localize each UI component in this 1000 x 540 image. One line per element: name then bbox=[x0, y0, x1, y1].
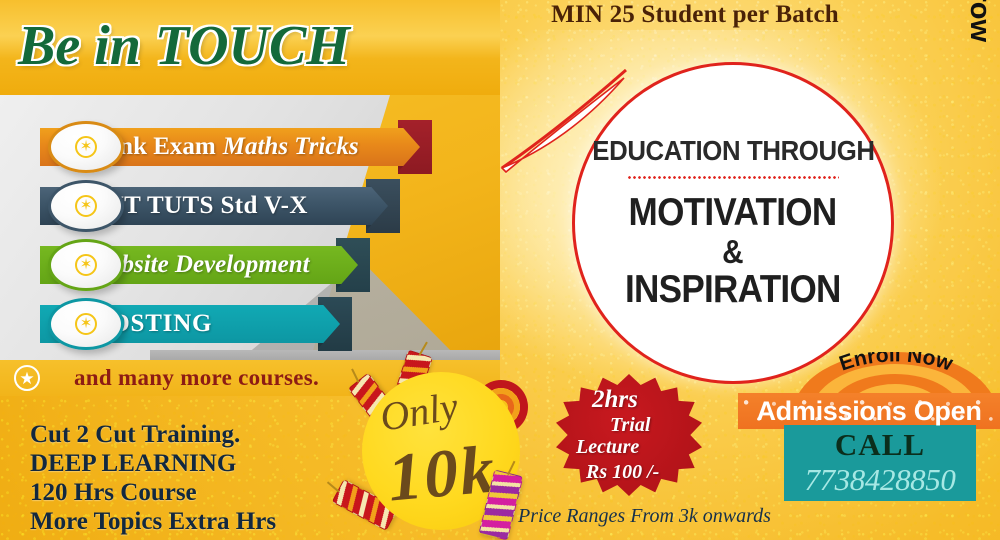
motivation-circle-content: EDUCATION THROUGH MOTIVATION & INSPIRATI… bbox=[575, 65, 891, 381]
star-icon: ✶ bbox=[75, 195, 97, 217]
call-cta-box[interactable]: CALL 7738428850 bbox=[784, 425, 976, 501]
circle-main-line-2: & bbox=[723, 234, 744, 270]
feature-list: Cut 2 Cut Training. DEEP LEARNING 120 Hr… bbox=[30, 420, 276, 536]
circle-top-line: EDUCATION THROUGH bbox=[592, 135, 874, 167]
course-badge: ✶ bbox=[48, 239, 124, 291]
admissions-open-label: Admissions Open bbox=[756, 396, 981, 427]
circle-main-line-1: MOTIVATION bbox=[629, 192, 837, 234]
motivation-circle-badge: EDUCATION THROUGH MOTIVATION & INSPIRATI… bbox=[572, 62, 894, 384]
vertical-tagline: Prepare yourself for Tomorrow bbox=[963, 0, 996, 28]
price-circle-word: Only bbox=[377, 382, 461, 441]
call-label: CALL bbox=[835, 429, 925, 460]
trial-line-3: Lecture bbox=[576, 436, 639, 459]
promo-banner: MIN 25 Student per Batch Be in TOUCH Ban… bbox=[0, 0, 1000, 540]
price-range-note: Price Ranges From 3k onwards bbox=[518, 505, 771, 528]
admissions-open-band[interactable]: Admissions Open bbox=[738, 393, 1000, 429]
star-circle-icon: ★ bbox=[14, 365, 40, 391]
course-item-website-development[interactable]: Website Development ✶ bbox=[0, 246, 400, 284]
price-circle: Only 10k bbox=[362, 372, 520, 530]
panel-shadow-strip bbox=[150, 350, 500, 360]
circle-dotted-divider bbox=[627, 176, 839, 179]
course-item-pvt-tuts[interactable]: PVT TUTS Std V-X ✶ bbox=[0, 187, 430, 225]
star-icon: ✶ bbox=[75, 313, 97, 335]
brand-title: Be in TOUCH bbox=[18, 14, 350, 78]
trial-line-4: Rs 100 /- bbox=[586, 461, 659, 484]
trial-line-1: 2hrs bbox=[592, 386, 638, 414]
phone-number[interactable]: 7738428850 bbox=[804, 462, 955, 498]
more-courses-label: and many more courses. bbox=[74, 365, 319, 391]
feature-line-4: More Topics Extra Hrs bbox=[30, 507, 276, 536]
trial-lecture-text: 2hrs Trial Lecture Rs 100 /- bbox=[556, 374, 702, 496]
course-item-hosting[interactable]: HOSTING ✶ bbox=[0, 305, 380, 343]
course-badge: ✶ bbox=[48, 180, 124, 232]
feature-line-3: 120 Hrs Course bbox=[30, 478, 276, 507]
circle-main-line-3: INSPIRATION bbox=[625, 269, 841, 311]
min-batch-headline: MIN 25 Student per Batch bbox=[505, 1, 885, 29]
feature-line-1: Cut 2 Cut Training. bbox=[30, 420, 276, 449]
course-badge: ✶ bbox=[48, 298, 124, 350]
course-badge: ✶ bbox=[48, 121, 124, 173]
trial-line-2: Trial bbox=[610, 414, 650, 437]
vertical-tagline-part2: Tomorrow bbox=[963, 0, 996, 42]
star-icon: ✶ bbox=[75, 254, 97, 276]
star-icon: ✶ bbox=[75, 136, 97, 158]
course-item-bank-exam[interactable]: Bank Exam Maths Tricks ✶ bbox=[0, 128, 460, 166]
price-circle-amount: 10k bbox=[385, 429, 499, 517]
course-label-italic: Maths Tricks bbox=[223, 133, 359, 161]
feature-line-2: DEEP LEARNING bbox=[30, 449, 276, 478]
